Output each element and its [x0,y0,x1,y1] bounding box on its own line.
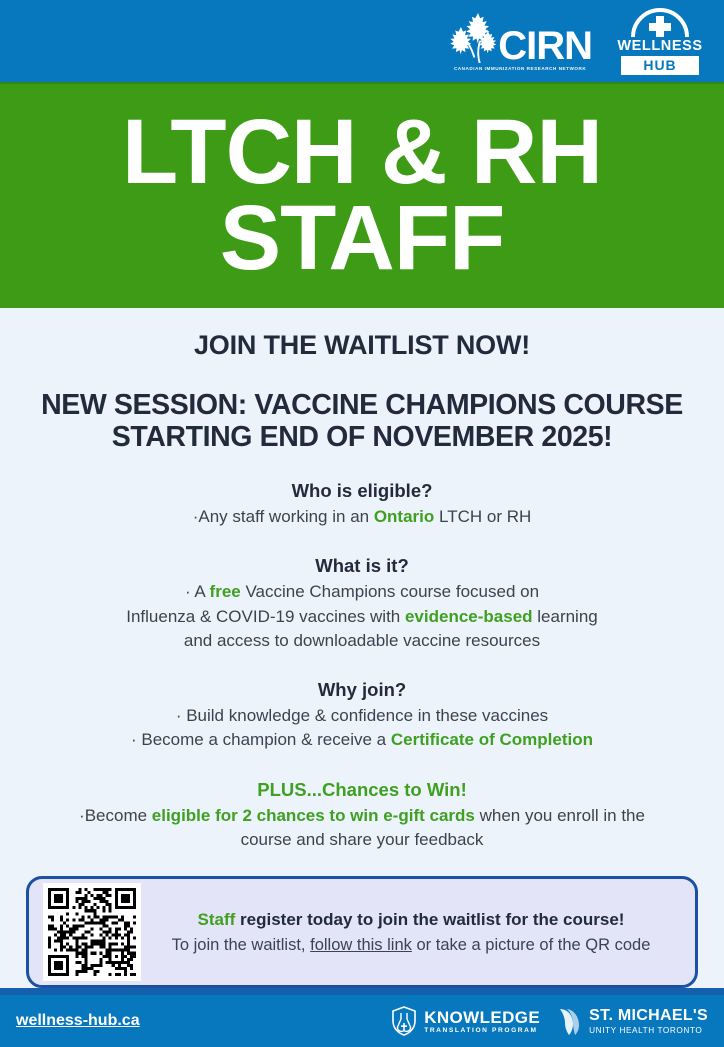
info-sections: Who is eligible?·Any staff working in an… [12,480,712,852]
cta-line-2: To join the waitlist, follow this link o… [147,936,675,955]
section-heading: Why join? [12,679,712,701]
emphasis-text: eligible for 2 chances to win e-gift car… [152,806,475,825]
section-line: · A free Vaccine Champions course focuse… [12,580,712,604]
cirn-subtitle: CANADIAN IMMUNIZATION RESEARCH NETWORK [454,66,586,71]
body-text: course and share your feedback [241,830,484,849]
emphasis-text: Certificate of Completion [391,730,593,749]
info-section: Why join?· Build knowledge & confidence … [12,679,712,753]
info-section: Who is eligible?·Any staff working in an… [12,480,712,529]
cta-line2-post: or take a picture of the QR code [412,936,650,954]
follow-this-link[interactable]: follow this link [310,936,412,954]
qr-code-icon[interactable] [48,888,136,976]
section-line: Influenza & COVID-19 vaccines with evide… [12,605,712,629]
body-text: · Become a champion & receive a [131,730,391,749]
section-heading: PLUS...Chances to Win! [12,779,712,801]
section-heading: What is it? [12,555,712,577]
body-text: Vaccine Champions course focused on [241,582,539,601]
headline: JOIN THE WAITLIST NOW! [12,330,712,361]
cta-staff-emphasis: Staff [198,910,236,929]
body-text: Influenza & COVID-19 vaccines with [126,607,405,626]
cta-box: Staff register today to join the waitlis… [26,876,698,988]
subheadline: NEW SESSION: VACCINE CHAMPIONS COURSE ST… [12,389,712,454]
body-text: LTCH or RH [434,507,531,526]
body-text: · Build knowledge & confidence in these … [176,706,548,725]
footer-divider [0,988,724,995]
cirn-logo-row: CIRN [448,11,592,65]
emphasis-text: evidence-based [405,607,533,626]
section-heading: Who is eligible? [12,480,712,502]
main-content: JOIN THE WAITLIST NOW! NEW SESSION: VACC… [0,308,724,988]
section-line: course and share your feedback [12,828,712,852]
sm-line1: ST. MICHAEL'S [589,1008,708,1024]
sm-line2: UNITY HEALTH TORONTO [589,1027,708,1035]
section-line: · Build knowledge & confidence in these … [12,704,712,728]
body-text: · A [185,582,210,601]
cta-line2-pre: To join the waitlist, [172,936,310,954]
subheadline-line1: NEW SESSION: VACCINE CHAMPIONS COURSE [41,389,683,421]
cta-line-1: Staff register today to join the waitlis… [147,910,675,930]
info-section: PLUS...Chances to Win!·Become eligible f… [12,779,712,853]
footer-website-link[interactable]: wellness-hub.ca [16,1012,140,1030]
cirn-logo: CIRN CANADIAN IMMUNIZATION RESEARCH NETW… [448,11,592,71]
top-header-bar: CIRN CANADIAN IMMUNIZATION RESEARCH NETW… [0,0,724,82]
knowledge-translation-logo: KNOWLEDGE TRANSLATION PROGRAM [391,1006,540,1036]
section-line: ·Any staff working in an Ontario LTCH or… [12,505,712,529]
kt-line2: TRANSLATION PROGRAM [424,1028,540,1035]
hero-title: LTCH & RH STAFF [122,110,602,281]
header-logo-group: CIRN CANADIAN IMMUNIZATION RESEARCH NETW… [448,7,706,75]
section-line: and access to downloadable vaccine resou… [12,629,712,653]
body-text: ·Any staff working in an [193,507,374,526]
subheadline-line2: STARTING END OF NOVEMBER 2025! [112,421,613,453]
wellness-hub-logo: WELLNESS HUB [614,7,706,75]
info-section: What is it?· A free Vaccine Champions co… [12,555,712,653]
kt-line1: KNOWLEDGE [424,1009,540,1026]
wellness-hub-line2: HUB [621,56,698,75]
hero-band: LTCH & RH STAFF [0,82,724,308]
body-text: when you enroll in the [475,806,645,825]
wellness-hub-line1: WELLNESS [617,39,702,54]
cta-line1-rest: register today to join the waitlist for … [235,910,624,929]
section-line: · Become a champion & receive a Certific… [12,728,712,752]
body-text: ·Become [79,806,152,825]
wing-mark-icon [556,1006,582,1036]
poster: CIRN CANADIAN IMMUNIZATION RESEARCH NETW… [0,0,724,1024]
cirn-wordmark: CIRN [498,28,592,65]
arc-plus-icon [630,7,690,37]
cta-text: Staff register today to join the waitlis… [141,910,681,955]
emphasis-text: Ontario [374,507,434,526]
section-line: ·Become eligible for 2 chances to win e-… [12,804,712,828]
body-text: and access to downloadable vaccine resou… [184,631,540,650]
body-text: learning [533,607,598,626]
shield-flask-icon [391,1006,417,1036]
footer-bar: wellness-hub.ca KNOWLEDGE TRANSLATION PR… [0,995,724,1047]
st-michaels-text: ST. MICHAEL'S UNITY HEALTH TORONTO [589,1008,708,1035]
knowledge-translation-text: KNOWLEDGE TRANSLATION PROGRAM [424,1009,540,1035]
hero-title-line2: STAFF [220,187,505,289]
emphasis-text: free [210,582,241,601]
st-michaels-logo: ST. MICHAEL'S UNITY HEALTH TORONTO [556,1006,708,1036]
qr-code-wrapper [43,883,141,981]
footer-logo-group: KNOWLEDGE TRANSLATION PROGRAM ST. MICHAE… [391,1006,708,1036]
maple-leaf-icon [448,11,504,63]
